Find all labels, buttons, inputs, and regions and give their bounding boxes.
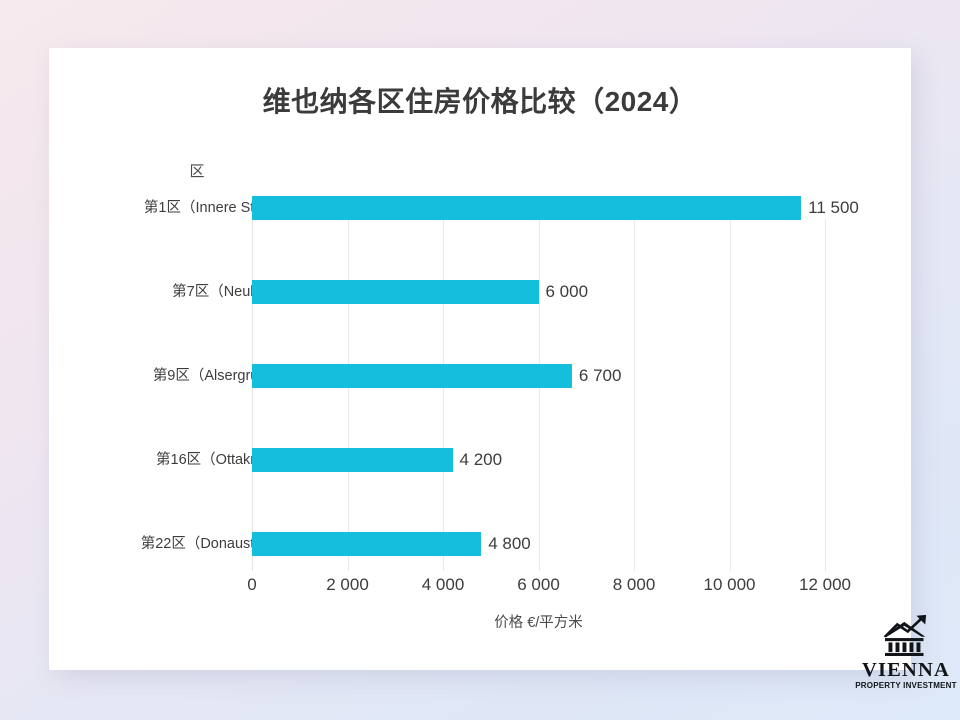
bar-value-label: 4 800	[488, 532, 531, 556]
x-axis-ticks: 02 0004 0006 0008 00010 00012 000	[252, 575, 825, 601]
bar-track: 6 700	[252, 364, 572, 388]
bar-row: 第1区（Innere Stadt）11 500	[49, 196, 911, 220]
logo-tagline: PROPERTY INVESTMENT	[854, 681, 958, 691]
logo-name: VIENNA	[854, 659, 958, 681]
x-tick-label: 0	[247, 575, 256, 595]
x-tick-label: 8 000	[613, 575, 656, 595]
gridline	[825, 219, 826, 571]
bar[interactable]	[252, 196, 801, 220]
bar-value-label: 6 000	[546, 280, 589, 304]
bar[interactable]	[252, 532, 481, 556]
gridline	[348, 219, 349, 571]
bar[interactable]	[252, 364, 572, 388]
slide-card: 维也纳各区住房价格比较（2024） 区 第1区（Innere Stadt）11 …	[49, 48, 911, 670]
bar-category-label: 第16区（Ottakring）	[0, 449, 289, 471]
vienna-property-investment-logo: VIENNA PROPERTY INVESTMENT	[854, 612, 958, 691]
x-tick-label: 4 000	[422, 575, 465, 595]
x-tick-label: 10 000	[704, 575, 756, 595]
bar-value-label: 6 700	[579, 364, 622, 388]
x-tick-label: 2 000	[326, 575, 369, 595]
x-tick-label: 6 000	[517, 575, 560, 595]
bar[interactable]	[252, 448, 453, 472]
bar-row: 第16区（Ottakring）4 200	[49, 448, 911, 472]
gridlines	[252, 219, 825, 571]
bar-category-label: 第1区（Innere Stadt）	[0, 197, 289, 219]
x-tick-label: 12 000	[799, 575, 851, 595]
bar-category-label: 第22区（Donaustadt）	[0, 533, 289, 555]
gridline	[443, 219, 444, 571]
bar-value-label: 4 200	[460, 448, 503, 472]
bar-category-label: 第7区（Neubau）	[0, 281, 289, 303]
gridline	[634, 219, 635, 571]
gridline	[539, 219, 540, 571]
x-axis-title: 价格 €/平方米	[252, 611, 825, 632]
bar-chart: 区 第1区（Innere Stadt）11 500第7区（Neubau）6 00…	[49, 48, 911, 670]
bar-row: 第9区（Alsergrund）6 700	[49, 364, 911, 388]
bar-track: 11 500	[252, 196, 801, 220]
bar-track: 6 000	[252, 280, 539, 304]
gridline	[730, 219, 731, 571]
bar-track: 4 800	[252, 532, 481, 556]
bar-category-label: 第9区（Alsergrund）	[0, 365, 289, 387]
bar[interactable]	[252, 280, 539, 304]
bar-row: 第7区（Neubau）6 000	[49, 280, 911, 304]
bar-track: 4 200	[252, 448, 453, 472]
classical-building-icon	[878, 612, 934, 658]
y-axis-title: 区	[167, 160, 227, 181]
bar-row: 第22区（Donaustadt）4 800	[49, 532, 911, 556]
bar-value-label: 11 500	[808, 196, 859, 220]
